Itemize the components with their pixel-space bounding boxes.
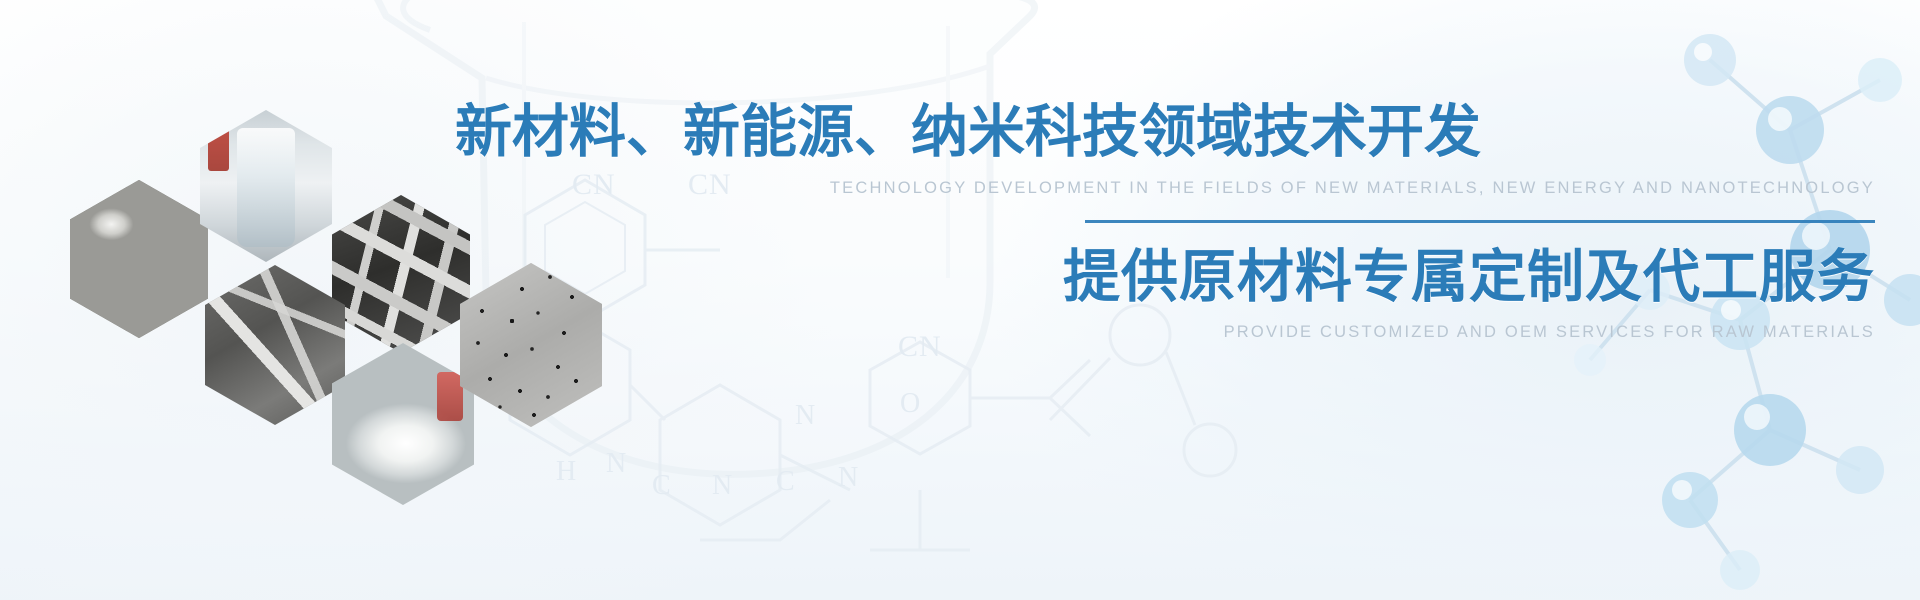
headline-secondary: 提供原材料专属定制及代工服务 [455, 249, 1875, 306]
hex-tile-porous-material-micrograph [70, 180, 208, 338]
headline-divider [1085, 220, 1875, 223]
hex-tile-nanofiber-sem-micrograph [205, 265, 345, 425]
subtitle-secondary: PROVIDE CUSTOMIZED AND OEM SERVICES FOR … [455, 323, 1875, 342]
subtitle-primary: TECHNOLOGY DEVELOPMENT IN THE FIELDS OF … [455, 179, 1875, 198]
headline-primary: 新材料、新能源、纳米科技领域技术开发 [455, 104, 1875, 161]
banner-copy-block: 新材料、新能源、纳米科技领域技术开发 TECHNOLOGY DEVELOPMEN… [455, 104, 1875, 342]
hero-banner: CN CN N N C H N C N O CN [0, 0, 1920, 600]
hex-tile-reagent-glass-bottle-photo [200, 110, 332, 262]
hex-tile-nanorod-sem-micrograph [332, 195, 470, 353]
hex-tile-white-powder-sample-photo [332, 343, 474, 505]
